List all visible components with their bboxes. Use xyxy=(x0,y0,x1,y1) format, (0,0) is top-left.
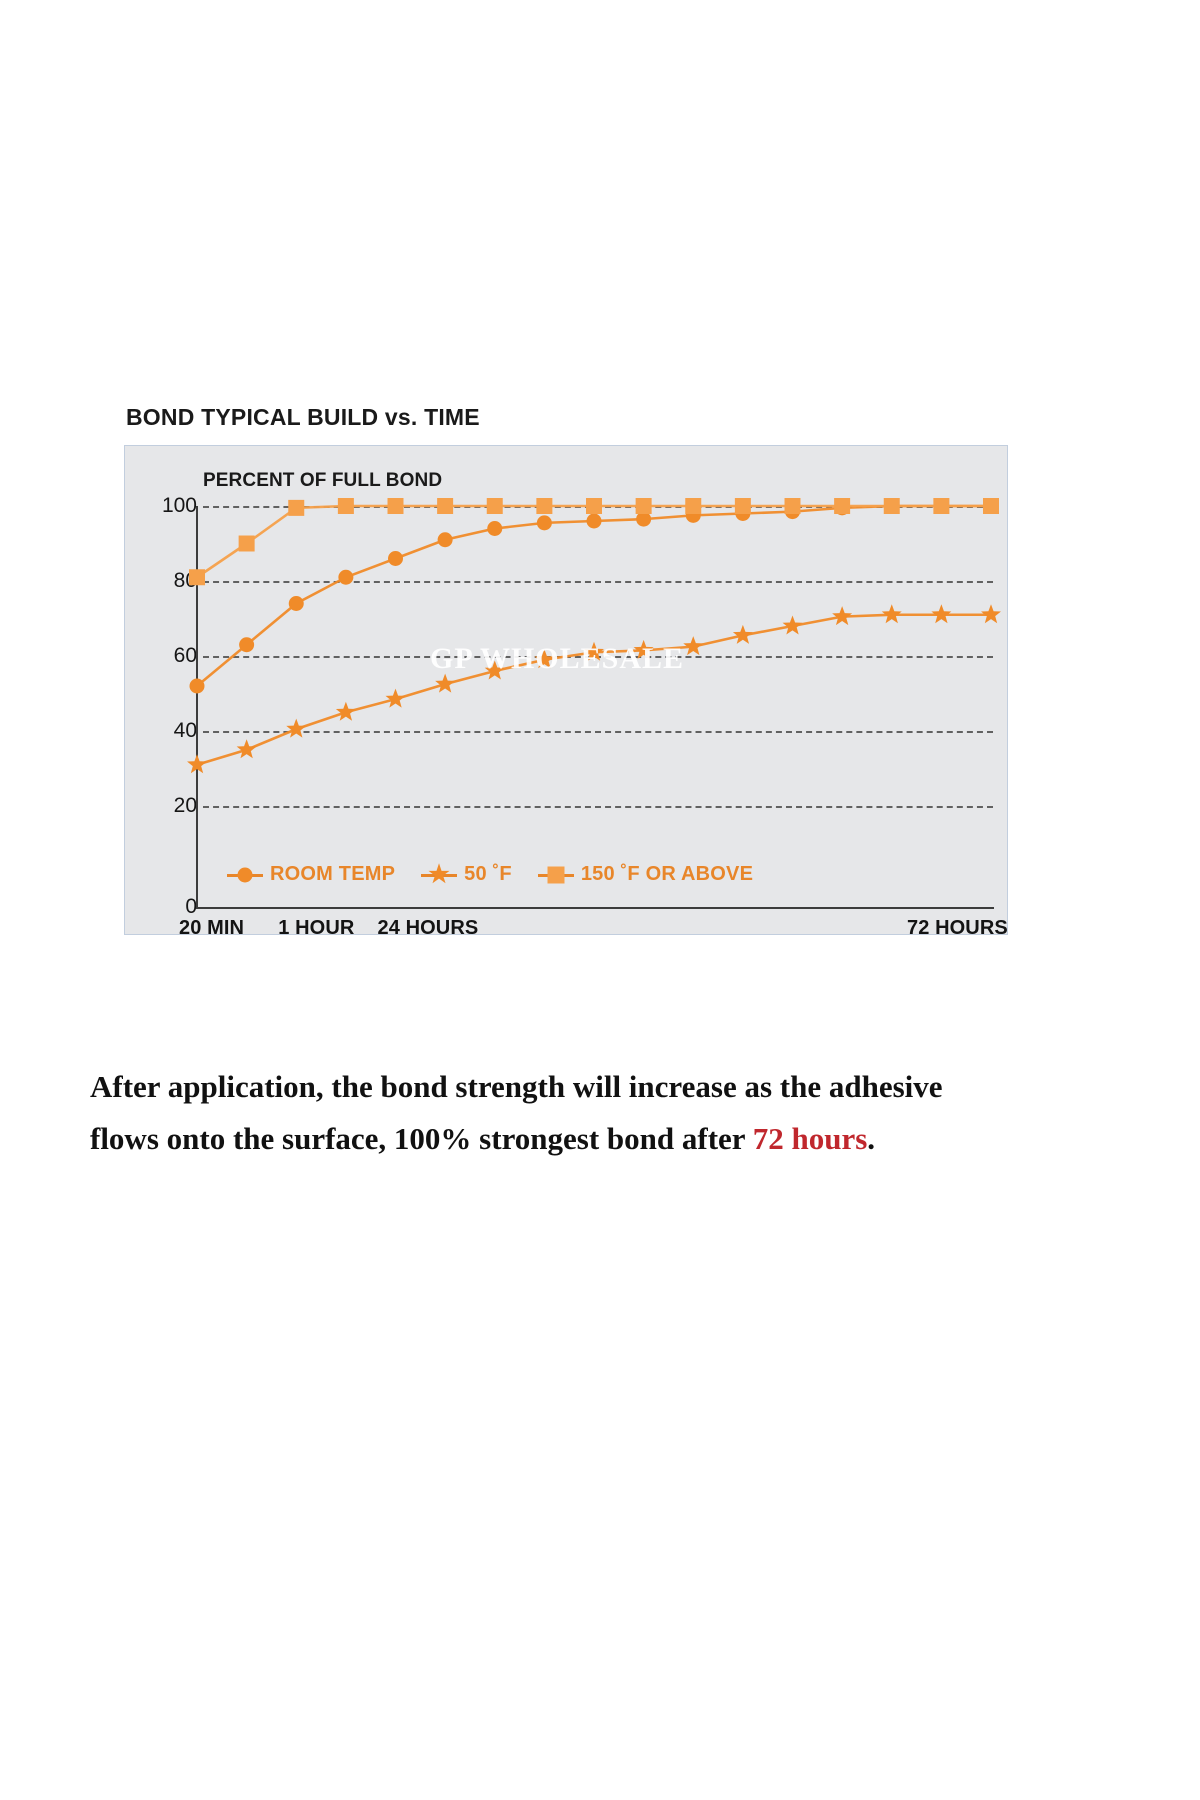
legend-entry-square[interactable]: 150 ˚F OR ABOVE xyxy=(538,863,753,886)
data-point-star xyxy=(485,661,505,680)
data-point-square xyxy=(933,498,949,514)
caption-paragraph: After application, the bond strength wil… xyxy=(90,1061,990,1165)
circle-marker-icon xyxy=(227,866,263,884)
data-point-square xyxy=(388,498,404,514)
data-point-star xyxy=(187,754,207,773)
legend-label: 150 ˚F OR ABOVE xyxy=(581,863,753,886)
x-axis-tick-label: 72 HOURS xyxy=(907,917,1008,940)
data-point-star xyxy=(286,719,306,738)
legend-entry-star[interactable]: ★50 ˚F xyxy=(421,863,512,886)
data-point-square xyxy=(288,500,304,516)
series-line-circle xyxy=(197,506,991,686)
data-point-circle xyxy=(289,596,304,611)
x-axis-tick-label: 24 HOURS xyxy=(378,917,479,940)
plot-area: PERCENT OF FULL BOND 100806040200 GP WHO… xyxy=(125,446,1009,936)
series-line-star xyxy=(197,615,991,765)
data-point-star xyxy=(336,702,356,721)
data-point-circle xyxy=(438,532,453,547)
data-point-star xyxy=(237,739,257,758)
data-point-square xyxy=(586,498,602,514)
data-point-star xyxy=(584,642,604,661)
data-point-star xyxy=(435,674,455,693)
data-point-square xyxy=(636,498,652,514)
data-point-square xyxy=(785,498,801,514)
data-point-star xyxy=(634,640,654,659)
data-point-star xyxy=(783,616,803,635)
star-marker-icon: ★ xyxy=(421,866,457,884)
chart-panel: PERCENT OF FULL BOND 100806040200 GP WHO… xyxy=(124,445,1008,935)
data-point-square xyxy=(487,498,503,514)
legend-label: ROOM TEMP xyxy=(270,863,395,886)
data-point-star xyxy=(534,649,554,668)
data-point-square xyxy=(239,536,255,552)
data-point-square xyxy=(983,498,999,514)
data-point-square xyxy=(338,498,354,514)
data-point-square xyxy=(834,498,850,514)
x-axis-tick-label: 20 MIN xyxy=(179,917,244,940)
data-point-circle xyxy=(388,551,403,566)
square-marker-icon xyxy=(538,866,574,884)
legend-entry-circle[interactable]: ROOM TEMP xyxy=(227,863,395,886)
legend-label: 50 ˚F xyxy=(464,863,512,886)
data-point-circle xyxy=(190,679,205,694)
bond-build-chart-figure: BOND TYPICAL BUILD vs. TIME PERCENT OF F… xyxy=(124,404,1008,935)
data-point-star xyxy=(931,604,951,623)
data-point-square xyxy=(536,498,552,514)
data-point-square xyxy=(189,569,205,585)
data-point-star xyxy=(882,604,902,623)
x-axis-tick-label: 1 HOUR xyxy=(278,917,354,940)
data-point-circle xyxy=(587,514,602,529)
data-point-square xyxy=(884,498,900,514)
data-point-square xyxy=(437,498,453,514)
chart-legend: ROOM TEMP★50 ˚F150 ˚F OR ABOVE xyxy=(227,863,753,886)
data-point-square xyxy=(685,498,701,514)
chart-title: BOND TYPICAL BUILD vs. TIME xyxy=(126,404,1008,431)
caption-text-part2: . xyxy=(867,1121,875,1156)
data-point-star xyxy=(683,636,703,655)
data-point-circle xyxy=(537,515,552,530)
data-point-square xyxy=(735,498,751,514)
page-root: BOND TYPICAL BUILD vs. TIME PERCENT OF F… xyxy=(0,0,1200,1800)
data-point-circle xyxy=(239,637,254,652)
data-point-star xyxy=(733,625,753,644)
data-point-circle xyxy=(487,521,502,536)
data-point-star xyxy=(386,689,406,708)
data-point-star xyxy=(981,604,1001,623)
data-point-star xyxy=(832,606,852,625)
caption-highlight: 72 hours xyxy=(753,1121,868,1156)
data-point-circle xyxy=(338,570,353,585)
